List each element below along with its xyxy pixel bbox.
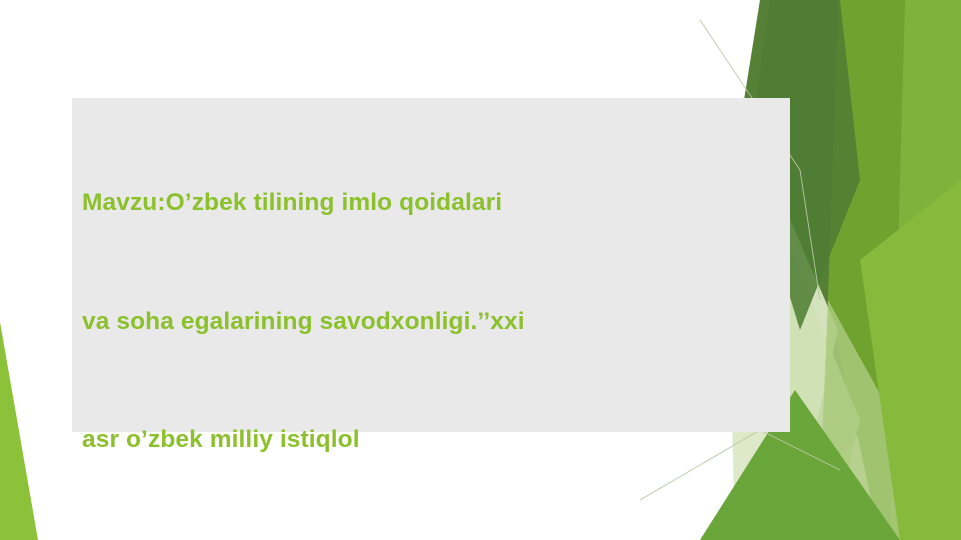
slide-body-text: Mavzu:O’zbek tilining imlo qoidalari va …	[82, 104, 842, 540]
decor-shape-bright-green-2	[860, 180, 961, 540]
decor-shape-left-wedge	[0, 322, 38, 540]
title-line-3: asr o’zbek milliy istiqlol	[82, 420, 842, 460]
presentation-slide: Mavzu:O’zbek tilining imlo qoidalari va …	[0, 0, 961, 540]
title-line-1: Mavzu:O’zbek tilining imlo qoidalari	[82, 183, 842, 223]
decor-shape-mid-green-1	[828, 0, 961, 540]
decor-shape-bright-green-1	[890, 0, 961, 540]
title-line-2: va soha egalarining savodxonligi.’’xxi	[82, 302, 842, 342]
